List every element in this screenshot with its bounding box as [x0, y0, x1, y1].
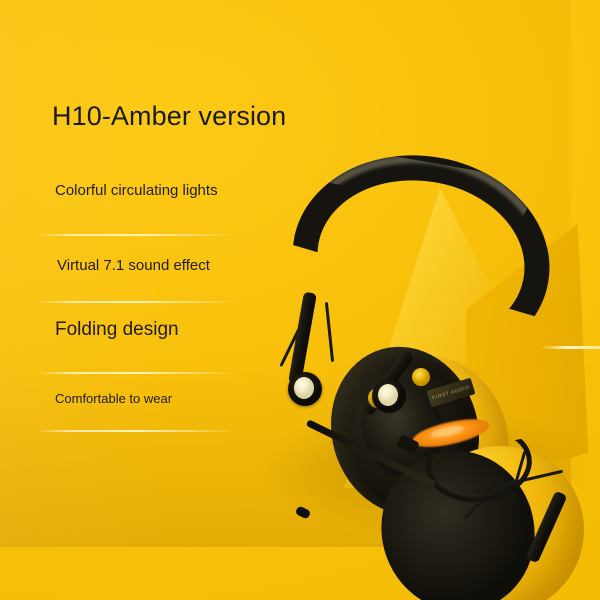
- hinge-pivot-knob: [412, 368, 430, 386]
- headphones-product-image: FIRST AUDIO: [240, 150, 600, 550]
- control-knob: [372, 379, 406, 413]
- feature-label: Virtual 7.1 sound effect: [57, 257, 210, 274]
- feature-label: Colorful circulating lights: [55, 182, 218, 199]
- feature-separator: [40, 301, 236, 303]
- display-block-highlight: [540, 346, 600, 349]
- control-knob-light: [378, 384, 398, 406]
- headband-wire-yoke: [325, 302, 334, 362]
- feature-separator: [40, 372, 236, 374]
- product-banner: H10-Amber version Colorful circulating l…: [0, 0, 600, 600]
- page-title: H10-Amber version: [52, 101, 286, 132]
- feature-separator: [40, 430, 236, 432]
- feature-label: Comfortable to wear: [55, 391, 172, 406]
- control-knob-light: [294, 377, 314, 399]
- control-knob: [288, 372, 322, 406]
- feature-separator: [40, 234, 236, 236]
- feature-label: Folding design: [55, 319, 179, 341]
